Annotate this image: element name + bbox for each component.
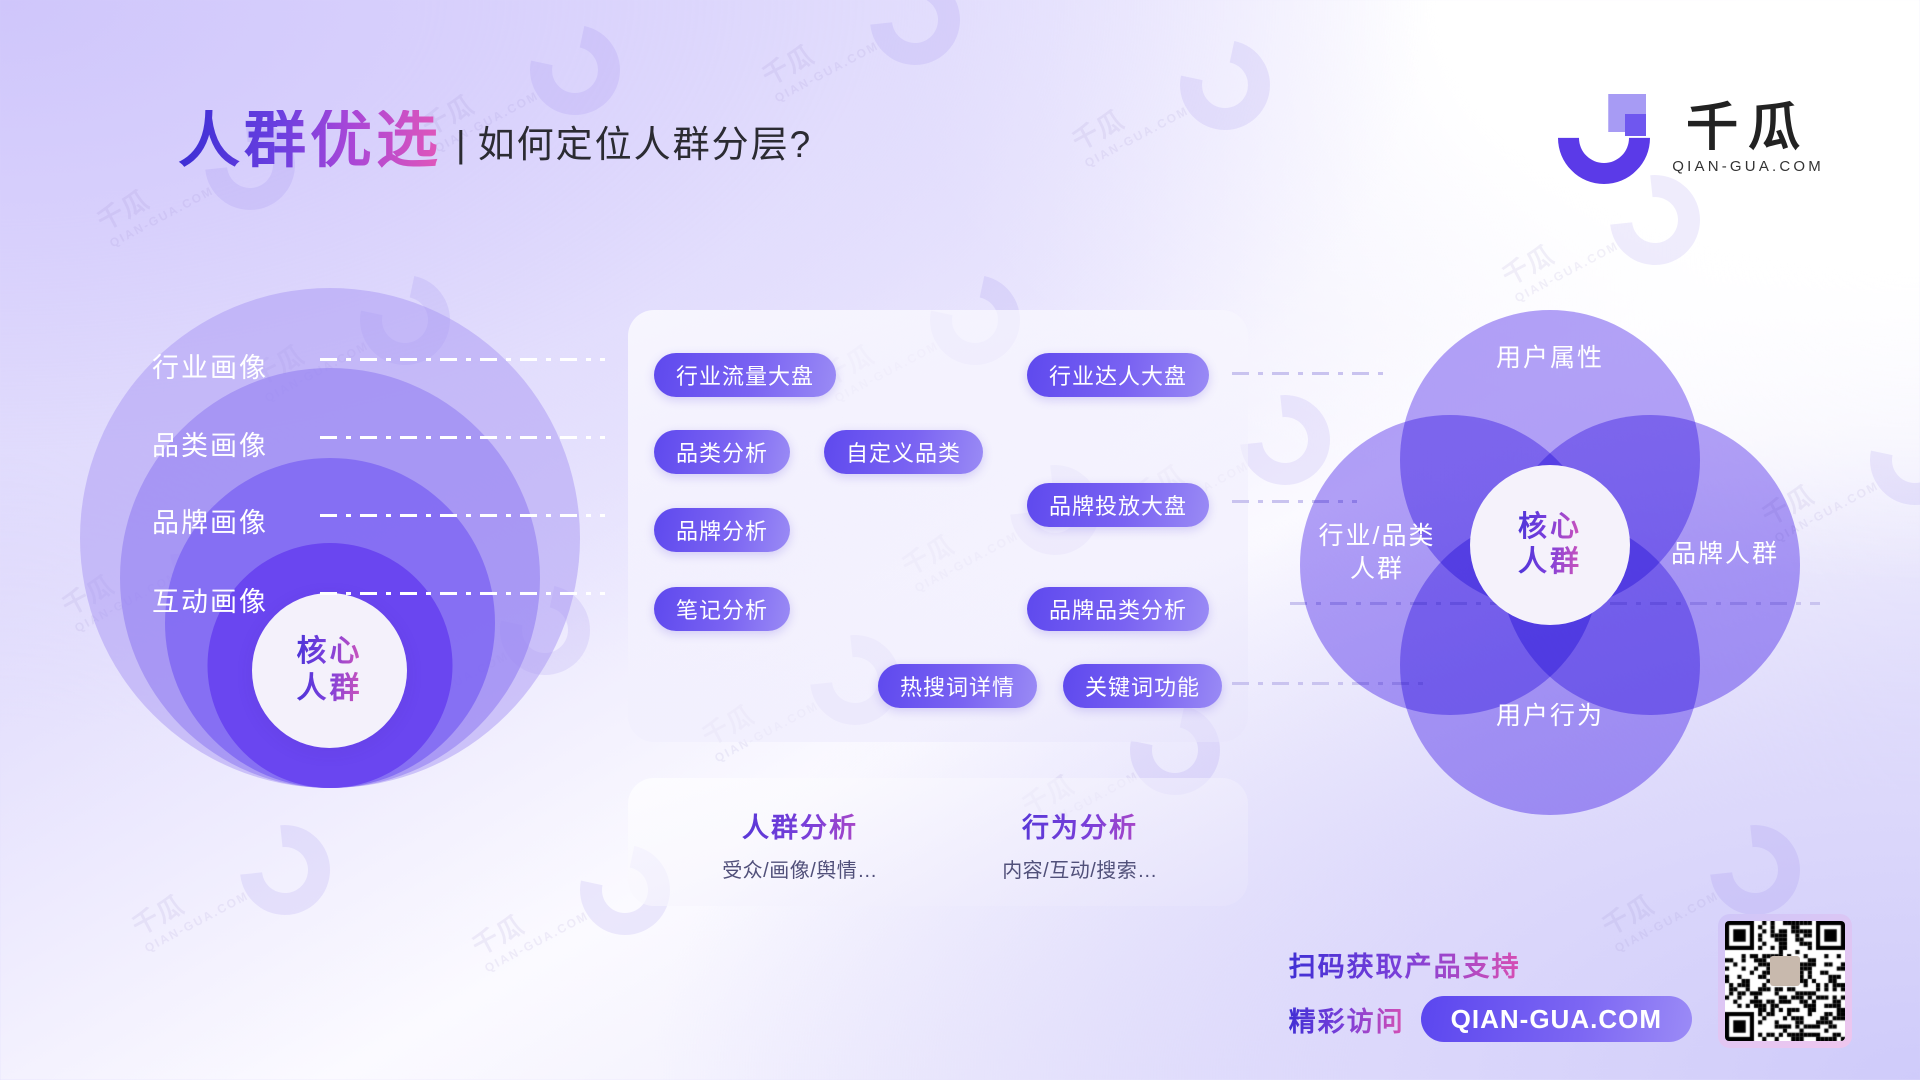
- watermark-logo-icon: [1862, 407, 1920, 514]
- connector-line-brand: [320, 514, 605, 517]
- website-url-button[interactable]: QIAN-GUA.COM: [1421, 996, 1692, 1042]
- venn-core-circle: 核心 人群: [1470, 465, 1630, 625]
- connector-line-category: [320, 436, 605, 439]
- analysis-crowd-title: 人群分析: [700, 806, 900, 845]
- ring-label-category: 品类画像: [152, 424, 268, 463]
- logo-arc-icon: [1539, 73, 1669, 203]
- pill-industry-traffic[interactable]: 行业流量大盘: [654, 353, 836, 397]
- venn-core-line1: 核心: [1518, 510, 1582, 545]
- title-divider: |: [456, 124, 468, 165]
- connector-line-industry: [320, 358, 605, 361]
- footer-line2: 精彩访问: [1289, 1000, 1405, 1039]
- brand-logo[interactable]: 千瓜 QIAN-GUA.COM: [1558, 92, 1824, 184]
- rings-core-line2: 人群: [297, 671, 363, 708]
- footer-cta: 扫码获取产品支持 精彩访问 QIAN-GUA.COM: [1289, 914, 1852, 1048]
- footer-row: 精彩访问 QIAN-GUA.COM: [1289, 996, 1692, 1042]
- pill-industry-kol[interactable]: 行业达人大盘: [1027, 353, 1209, 397]
- ring-label-industry: 行业画像: [152, 346, 268, 385]
- pill-brand-placement[interactable]: 品牌投放大盘: [1027, 483, 1209, 527]
- connector-line-interact: [320, 592, 605, 595]
- footer-line1: 扫码获取产品支持: [1289, 945, 1521, 984]
- brand-name-cn: 千瓜: [1686, 101, 1810, 156]
- pill-hot-keyword-detail[interactable]: 热搜词详情: [878, 664, 1037, 708]
- watermark-logo-icon: [236, 821, 335, 920]
- venn-diagram: 核心 人群 用户属性 品牌人群 用户行为 行业/品类 人群: [1290, 300, 1810, 790]
- rings-core-line1: 核心: [297, 634, 363, 671]
- qiangua-logo-icon: [1558, 92, 1650, 184]
- analysis-behavior-sub: 内容/互动/搜索…: [980, 854, 1180, 883]
- ring-label-interact: 互动画像: [152, 580, 268, 619]
- venn-core-line2: 人群: [1518, 545, 1582, 580]
- watermark: 千瓜QIAN-GUA.COM: [465, 876, 591, 975]
- page-subtitle: |如何定位人群分层?: [456, 114, 812, 172]
- analysis-behavior: 行为分析 内容/互动/搜索…: [980, 806, 1180, 883]
- venn-label-bottom: 用户行为: [1290, 700, 1810, 733]
- page-subtitle-text: 如何定位人群分层?: [478, 124, 813, 165]
- watermark: 千瓜QIAN-GUA.COM: [755, 6, 881, 105]
- footer-text-block: 扫码获取产品支持 精彩访问 QIAN-GUA.COM: [1289, 945, 1692, 1048]
- rings-core-circle: 核心 人群: [252, 593, 407, 748]
- pill-category-analysis[interactable]: 品类分析: [654, 430, 790, 474]
- pill-note-analysis[interactable]: 笔记分析: [654, 587, 790, 631]
- venn-label-right: 品牌人群: [1640, 538, 1810, 571]
- venn-label-left-line1: 行业/品类: [1319, 522, 1436, 550]
- qr-code-image: [1725, 921, 1845, 1041]
- venn-label-top: 用户属性: [1290, 342, 1810, 375]
- pill-brand-analysis[interactable]: 品牌分析: [654, 508, 790, 552]
- watermark-logo-icon: [1172, 32, 1279, 139]
- venn-label-left-line2: 人群: [1350, 555, 1404, 583]
- analysis-crowd-sub: 受众/画像/舆情…: [700, 854, 900, 883]
- watermark-logo-icon: [1606, 171, 1705, 270]
- pill-keyword-function[interactable]: 关键词功能: [1063, 664, 1222, 708]
- watermark: 千瓜QIAN-GUA.COM: [125, 856, 251, 955]
- watermark: 千瓜QIAN-GUA.COM: [1495, 206, 1621, 305]
- page-header: 人群优选 |如何定位人群分层?: [178, 110, 812, 172]
- qr-code-icon[interactable]: [1718, 914, 1852, 1048]
- page-title: 人群优选: [178, 110, 442, 172]
- watermark-logo-icon: [866, 0, 965, 69]
- pill-custom-category[interactable]: 自定义品类: [824, 430, 983, 474]
- pill-brand-category[interactable]: 品牌品类分析: [1027, 587, 1209, 631]
- analysis-crowd: 人群分析 受众/画像/舆情…: [700, 806, 900, 883]
- watermark-logo-icon: [522, 17, 629, 124]
- ring-label-brand: 品牌画像: [152, 501, 268, 540]
- analysis-behavior-title: 行为分析: [980, 806, 1180, 845]
- watermark: 千瓜QIAN-GUA.COM: [1065, 71, 1191, 170]
- brand-text: 千瓜 QIAN-GUA.COM: [1672, 101, 1824, 176]
- concentric-rings-diagram: 核心 人群 行业画像 品类画像 品牌画像 互动画像: [0, 288, 660, 808]
- qr-avatar-icon: [1770, 956, 1800, 986]
- venn-label-left: 行业/品类 人群: [1292, 520, 1462, 585]
- brand-name-en: QIAN-GUA.COM: [1672, 158, 1824, 175]
- watermark-logo-icon: [1706, 821, 1805, 920]
